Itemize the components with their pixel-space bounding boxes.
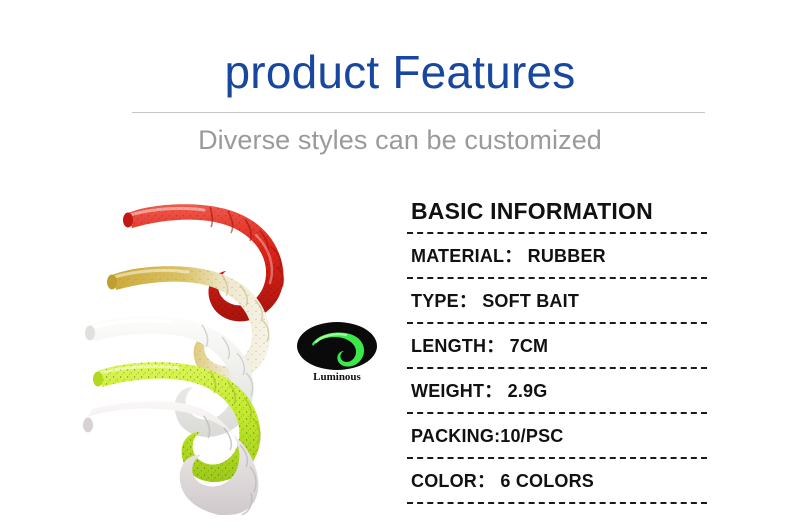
basic-information-panel: BASIC INFORMATION MATERIAL： RUBBER TYPE：…	[407, 196, 707, 504]
info-value-packing: 10/PSC	[500, 424, 563, 448]
info-row-material: MATERIAL： RUBBER	[407, 234, 707, 277]
page-title: product Features	[0, 44, 800, 100]
info-row-color: COLOR： 6 COLORS	[407, 459, 707, 502]
info-label-weight: WEIGHT：	[411, 379, 502, 403]
info-label-type: TYPE：	[411, 289, 477, 313]
info-value-material: RUBBER	[522, 244, 605, 268]
info-value-length: 7CM	[504, 334, 548, 358]
info-value-weight: 2.9G	[502, 379, 547, 403]
info-row-weight: WEIGHT： 2.9G	[407, 369, 707, 412]
info-label-material: MATERIAL：	[411, 244, 522, 268]
info-heading: BASIC INFORMATION	[407, 196, 707, 232]
info-label-packing: PACKING:	[411, 424, 500, 448]
info-divider	[407, 502, 707, 504]
info-row-type: TYPE： SOFT BAIT	[407, 279, 707, 322]
info-row-packing: PACKING: 10/PSC	[407, 414, 707, 457]
luminous-badge: Luminous	[296, 320, 378, 384]
title-divider	[132, 112, 705, 113]
info-value-type: SOFT BAIT	[477, 289, 579, 313]
info-row-length: LENGTH： 7CM	[407, 324, 707, 367]
badge-label: Luminous	[313, 371, 361, 383]
badge-background	[297, 322, 377, 370]
info-label-color: COLOR：	[411, 469, 495, 493]
info-label-length: LENGTH：	[411, 334, 504, 358]
page-header: product Features Diverse styles can be c…	[0, 0, 800, 170]
page-subtitle: Diverse styles can be customized	[0, 120, 800, 160]
info-value-color: 6 COLORS	[495, 469, 594, 493]
